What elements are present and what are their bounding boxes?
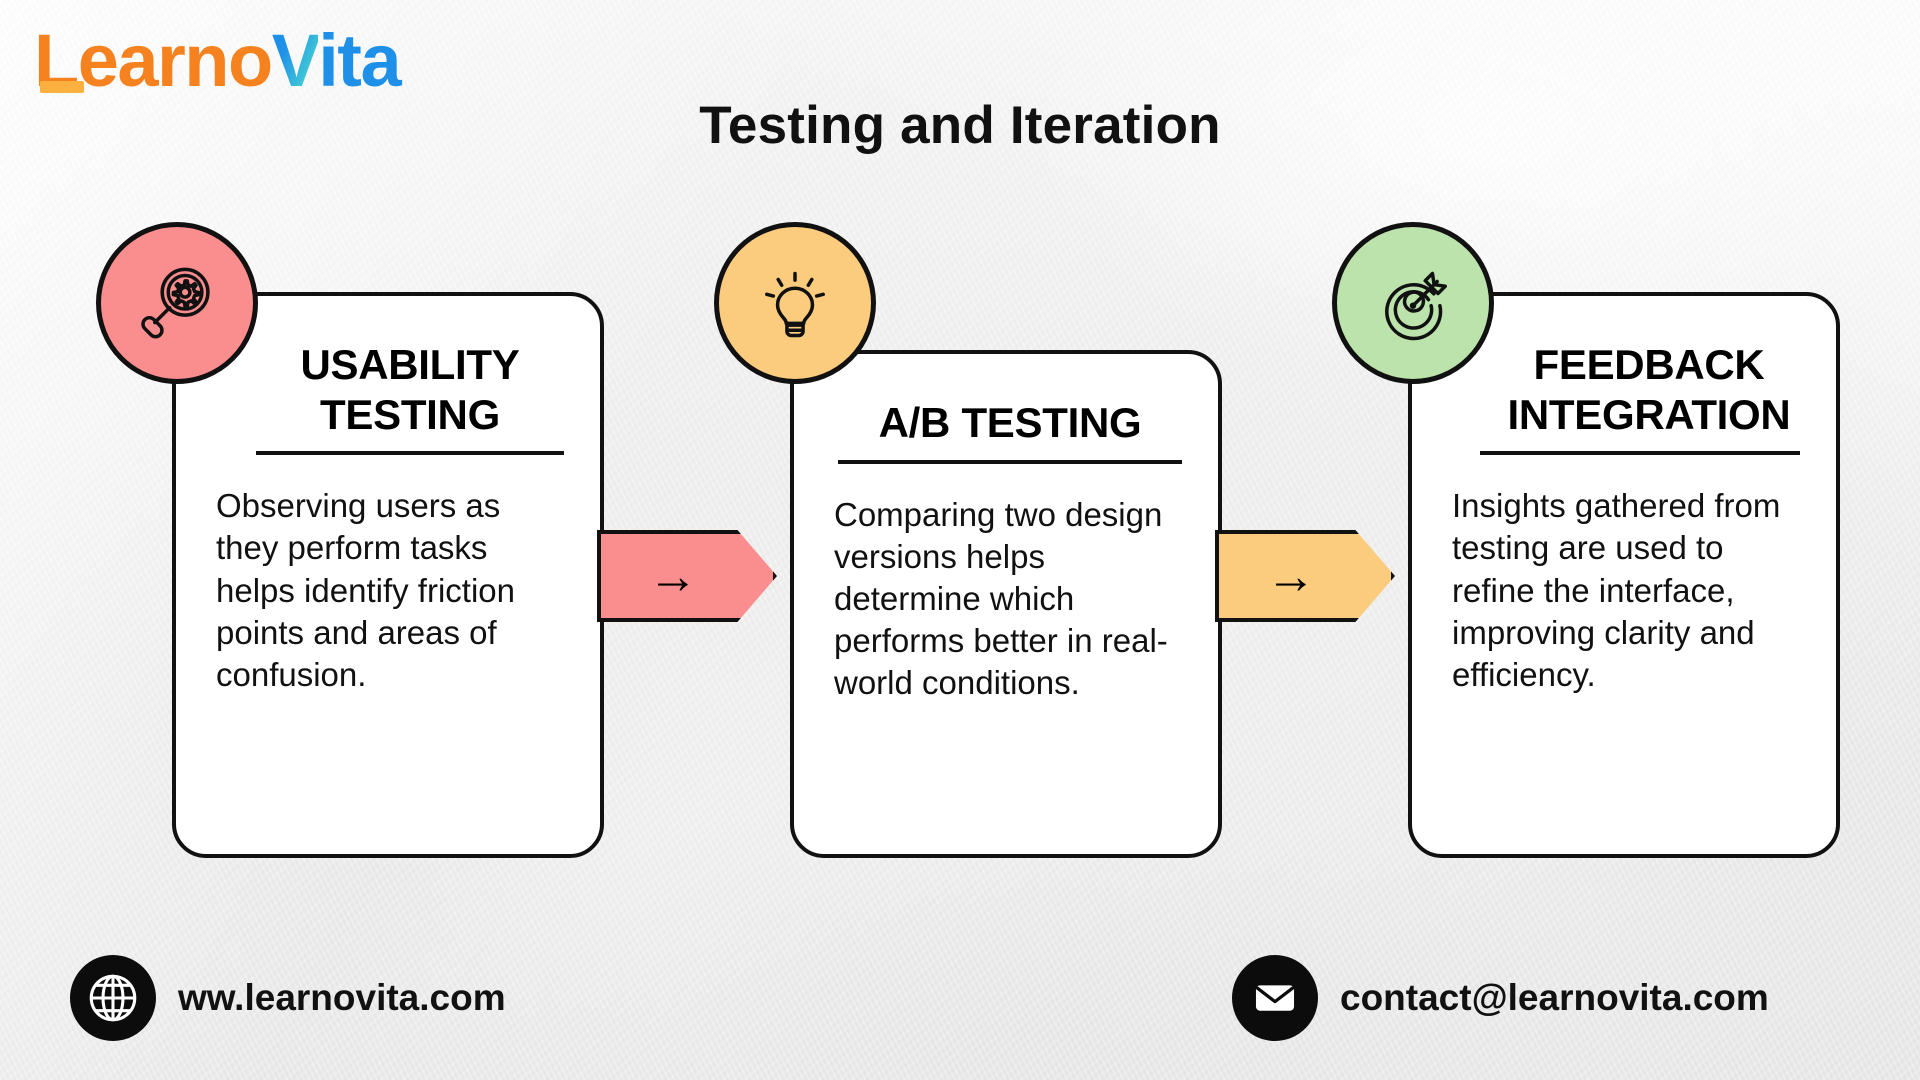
arrow-ab-to-feedback: →	[1215, 530, 1395, 622]
envelope-icon	[1232, 955, 1318, 1041]
footer-website[interactable]: ww.learnovita.com	[70, 955, 506, 1041]
card-usability-testing: USABILITY TESTING Observing users as the…	[172, 292, 604, 858]
card-title: FEEDBACK INTEGRATION	[1452, 340, 1804, 439]
card-title-divider	[838, 460, 1182, 464]
card-feedback-integration: FEEDBACK INTEGRATION Insights gathered f…	[1408, 292, 1840, 858]
page-title: Testing and Iteration	[0, 95, 1920, 156]
magnifier-gear-icon	[134, 260, 220, 346]
lightbulb-icon	[752, 260, 838, 346]
target-arrow-icon	[1370, 260, 1456, 346]
brand-logo: LearnoVita	[34, 24, 400, 98]
arrow-usability-to-ab: →	[597, 530, 777, 622]
card-body-text: Insights gathered from testing are used …	[1452, 485, 1804, 696]
globe-icon	[70, 955, 156, 1041]
logo-text-v: V	[272, 19, 319, 102]
logo-l-foot-accent	[40, 81, 84, 93]
badge-feedback-integration	[1332, 222, 1494, 384]
card-body-text: Observing users as they perform tasks he…	[216, 485, 568, 696]
website-url-text: ww.learnovita.com	[178, 977, 506, 1019]
badge-ab-testing	[714, 222, 876, 384]
arrow-right-icon: →	[1266, 551, 1316, 601]
card-title: USABILITY TESTING	[216, 340, 568, 439]
badge-usability-testing	[96, 222, 258, 384]
card-body-text: Comparing two design versions helps dete…	[834, 494, 1186, 705]
logo-text-ita: ita	[318, 19, 400, 102]
card-title-divider	[256, 451, 564, 455]
footer-email[interactable]: contact@learnovita.com	[1232, 955, 1769, 1041]
card-title-divider	[1480, 451, 1800, 455]
card-title: A/B TESTING	[834, 398, 1186, 448]
email-address-text: contact@learnovita.com	[1340, 977, 1769, 1019]
card-ab-testing: A/B TESTING Comparing two design version…	[790, 350, 1222, 858]
arrow-right-icon: →	[648, 551, 698, 601]
